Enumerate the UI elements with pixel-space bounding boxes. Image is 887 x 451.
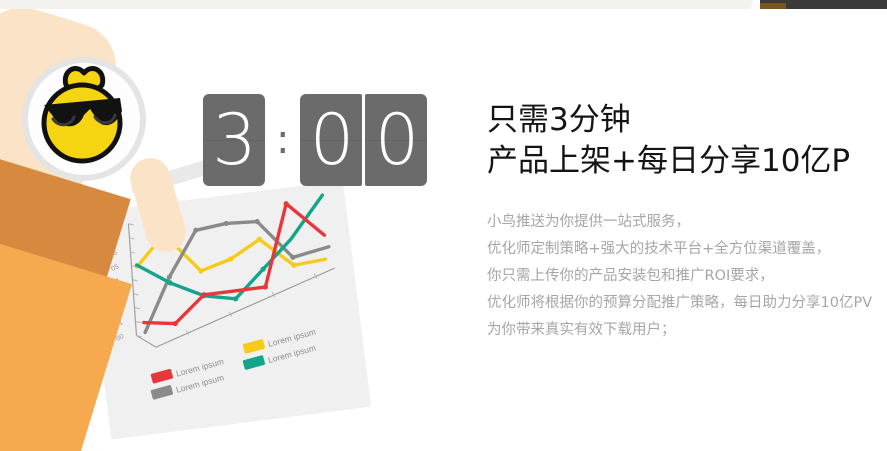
hero-illustration: 08 07 06 05 04 03 02 01 00 [0,9,470,451]
body-line: 优化师将根据你的预算分配推广策略，每日助力分享10亿PV [487,290,887,317]
body-line: 你只需上传你的产品安装包和推广ROI要求， [487,263,887,290]
body-copy: 小鸟推送为你提供一站式服务， 优化师定制策略+强大的技术平台+全方位渠道覆盖， … [487,209,887,344]
chart-inner: 08 07 06 05 04 03 02 01 00 [83,180,372,439]
body-line: 小鸟推送为你提供一站式服务， [487,209,887,236]
top-strip-left [0,0,757,9]
bird-mascot-icon [22,57,146,181]
countdown-timer: 3 : 0 0 [203,94,427,186]
chart-card: 08 07 06 05 04 03 02 01 00 [83,180,372,439]
timer-minutes-tile: 3 [203,94,265,186]
timer-separator: : [265,94,300,186]
top-strip-right [760,0,887,9]
line-chart: 08 07 06 05 04 03 02 01 00 [83,180,372,439]
body-line: 为你带来真实有效下载用户； [487,317,887,344]
y-tick-label: 05 [110,263,120,273]
timer-seconds-ones-tile: 0 [365,94,427,186]
top-strip-accent [760,3,786,9]
timer-seconds-tens-tile: 0 [300,94,362,186]
headline-line-1: 只需3分钟 [487,100,887,141]
promo-copy: 只需3分钟 产品上架+每日分享10亿P 小鸟推送为你提供一站式服务， 优化师定制… [487,100,887,344]
chart-legend: Lorem ipsum Lorem ipsum Lorem ipsum Lore… [145,326,322,400]
headline-line-2: 产品上架+每日分享10亿P [487,141,887,182]
body-line: 优化师定制策略+强大的技术平台+全方位渠道覆盖， [487,236,887,263]
